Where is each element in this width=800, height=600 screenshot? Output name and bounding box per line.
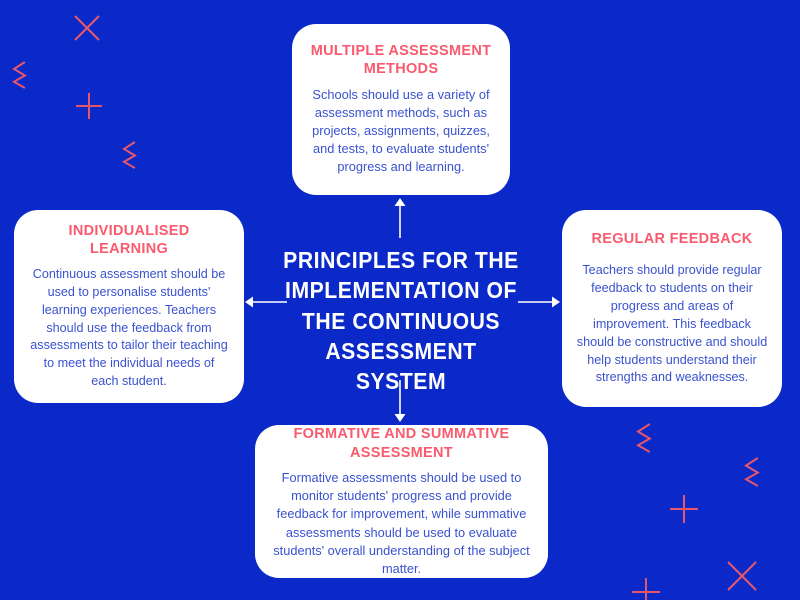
page-title: PRINCIPLES FOR THE IMPLEMENTATION OF THE… (280, 245, 521, 397)
card-regular-feedback[interactable]: REGULAR FEEDBACK Teachers should provide… (562, 210, 782, 407)
card-body: Schools should use a variety of assessme… (309, 86, 493, 177)
decoration-zigzag-icon (746, 458, 758, 486)
card-body: Teachers should provide regular feedback… (576, 262, 768, 387)
card-title: INDIVIDUALISED LEARNING (29, 222, 229, 259)
arrow-right-icon (518, 292, 560, 312)
card-title: REGULAR FEEDBACK (591, 230, 752, 249)
card-title: FORMATIVE AND SUMMATIVE ASSESSMENT (271, 425, 532, 462)
card-body: Formative assessments should be used to … (271, 469, 532, 578)
arrow-up-icon (390, 198, 410, 238)
infographic-canvas: PRINCIPLES FOR THE IMPLEMENTATION OF THE… (0, 0, 800, 600)
decoration-x-stroke (728, 562, 756, 590)
decoration-x-stroke (75, 16, 99, 40)
decoration-x-stroke (728, 562, 756, 590)
card-multiple-assessment-methods[interactable]: MULTIPLE ASSESSMENT METHODS Schools shou… (292, 24, 510, 195)
decoration-zigzag-icon (638, 424, 650, 452)
arrow-left-icon (245, 292, 287, 312)
decoration-x-icon (75, 16, 99, 40)
card-individualised-learning[interactable]: INDIVIDUALISED LEARNING Continuous asses… (14, 210, 244, 403)
decoration-zigzag-icon (14, 62, 25, 88)
decoration-zigzag-icon (124, 142, 135, 168)
decoration-x-stroke (75, 16, 99, 40)
card-title: MULTIPLE ASSESSMENT METHODS (309, 42, 493, 79)
decoration-plus-icon (76, 93, 102, 119)
decoration-x-icon (728, 562, 756, 590)
decoration-plus-icon (632, 578, 660, 600)
card-body: Continuous assessment should be used to … (29, 266, 229, 391)
arrow-down-icon (390, 380, 410, 422)
card-formative-and-summative-assessment[interactable]: FORMATIVE AND SUMMATIVE ASSESSMENT Forma… (255, 425, 548, 578)
decoration-plus-icon (670, 495, 698, 523)
